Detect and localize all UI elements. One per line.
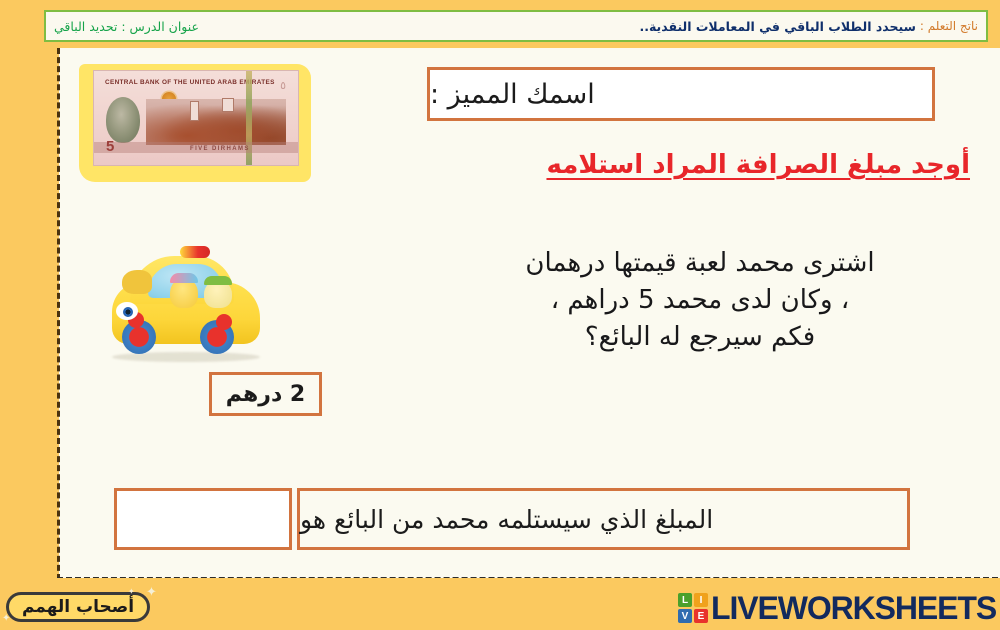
word-problem-line: فكم سيرجع له البائع؟ — [430, 319, 970, 356]
banknote-image: CENTRAL BANK OF THE UNITED ARAB EMIRATES… — [79, 56, 311, 186]
banknote-tower — [222, 98, 234, 112]
toy-passenger-hat — [204, 276, 232, 285]
answer-input-field[interactable] — [114, 488, 292, 550]
student-name-label: اسمك المميز : — [430, 79, 595, 110]
people-of-determination-badge: أصحاب الهمم — [6, 592, 150, 622]
logo-wordmark: LIVEWORKSHEETS — [711, 590, 996, 627]
learning-outcome-label: ناتج التعلم : — [920, 19, 978, 33]
task-instruction: أوجد مبلغ الصرافة المراد استلامه — [546, 150, 970, 180]
logo-block-l: L — [678, 593, 692, 607]
dashed-divider-left — [57, 48, 60, 580]
learning-outcome: ناتج التعلم : سيحدد الطلاب الباقي في الم… — [639, 19, 978, 34]
sparkle-icon: ✦ — [128, 588, 135, 596]
liveworksheets-logo[interactable]: L I V E LIVEWORKSHEETS — [678, 589, 996, 627]
logo-block-v: V — [678, 609, 692, 623]
price-tag-box: 2 درهم — [209, 372, 322, 416]
lesson-title: عنوان الدرس : تحديد الباقي — [54, 19, 199, 34]
toy-passenger-hat — [170, 273, 198, 283]
header-info-box: عنوان الدرس : تحديد الباقي ناتج التعلم :… — [44, 10, 988, 42]
sparkle-icon: ✦ — [146, 586, 157, 599]
banknote-tower — [190, 101, 199, 121]
header-band: عنوان الدرس : تحديد الباقي ناتج التعلم :… — [0, 0, 1000, 48]
learning-outcome-text: سيحدد الطلاب الباقي في المعاملات النقدية… — [639, 19, 915, 34]
banknote-denomination-words: FIVE DIRHAMS — [190, 146, 250, 152]
answer-statement-box: المبلغ الذي سيستلمه محمد من البائع هو — [297, 488, 910, 550]
student-name-field[interactable]: اسمك المميز : — [427, 67, 935, 121]
logo-block-i: I — [694, 593, 708, 607]
answer-statement-text: المبلغ الذي سيستلمه محمد من البائع هو — [300, 505, 713, 534]
car-fender — [122, 270, 152, 294]
uae-5-dirham-note: CENTRAL BANK OF THE UNITED ARAB EMIRATES… — [93, 70, 299, 166]
word-problem-line: اشترى محمد لعبة قيمتها درهمان — [430, 245, 970, 282]
sparkle-icon: ✦ — [2, 614, 10, 624]
car-roof-light — [180, 246, 210, 258]
banknote-portrait — [106, 97, 140, 143]
logo-letter-blocks: L I V E — [678, 593, 708, 623]
word-problem-line: ، وكان لدى محمد 5 دراهم ، — [430, 282, 970, 319]
car-pupil — [123, 307, 133, 317]
car-decal-dot — [216, 314, 232, 330]
banknote-arabic-numeral: ٥ — [280, 79, 286, 92]
worksheet-page: عنوان الدرس : تحديد الباقي ناتج التعلم :… — [0, 0, 1000, 630]
logo-block-e: E — [694, 609, 708, 623]
banknote-fort-illustration — [146, 99, 286, 145]
price-tag-label: 2 درهم — [226, 382, 305, 407]
badge-label: أصحاب الهمم — [22, 597, 134, 617]
word-problem-text: اشترى محمد لعبة قيمتها درهمان ، وكان لدى… — [430, 245, 970, 356]
banknote-denomination: 5 — [106, 138, 114, 155]
toy-car-image — [104, 240, 269, 368]
